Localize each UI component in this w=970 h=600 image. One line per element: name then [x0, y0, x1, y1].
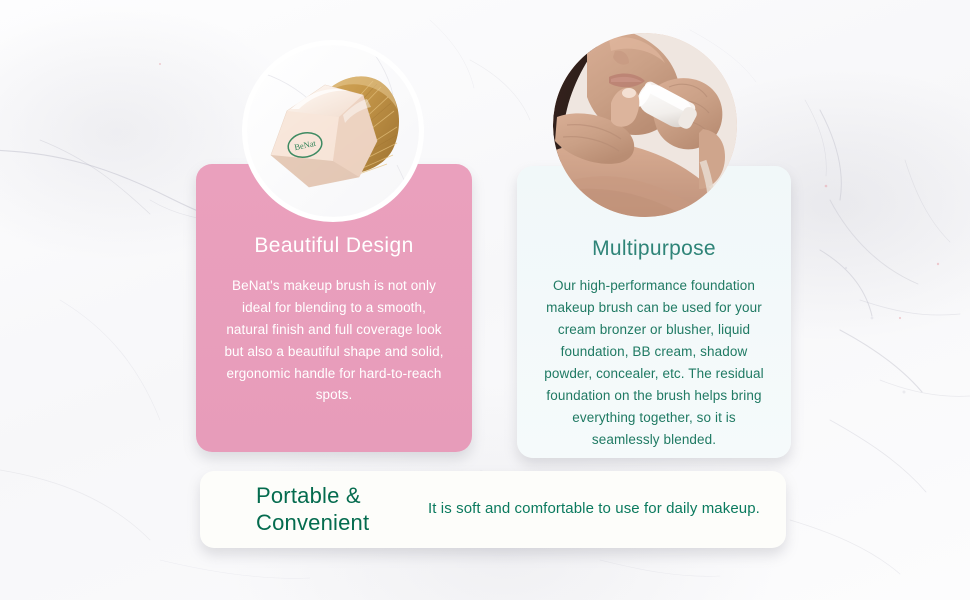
feature-body-beautiful-design: BeNat's makeup brush is not only ideal f…: [212, 258, 456, 406]
feature-title-portable-convenient: Portable & Convenient: [256, 483, 428, 537]
feature-card-portable-convenient: Portable & Convenient It is soft and com…: [200, 471, 786, 548]
infographic-canvas: Beautiful Design BeNat's makeup brush is…: [0, 0, 970, 600]
feature-body-portable-convenient: It is soft and comfortable to use for da…: [428, 498, 786, 521]
product-photo-makeup-brush: BeNat: [247, 45, 419, 217]
lifestyle-photo-applying-foundation: [553, 33, 737, 217]
feature-body-multipurpose: Our high-performance foundation makeup b…: [531, 261, 777, 451]
